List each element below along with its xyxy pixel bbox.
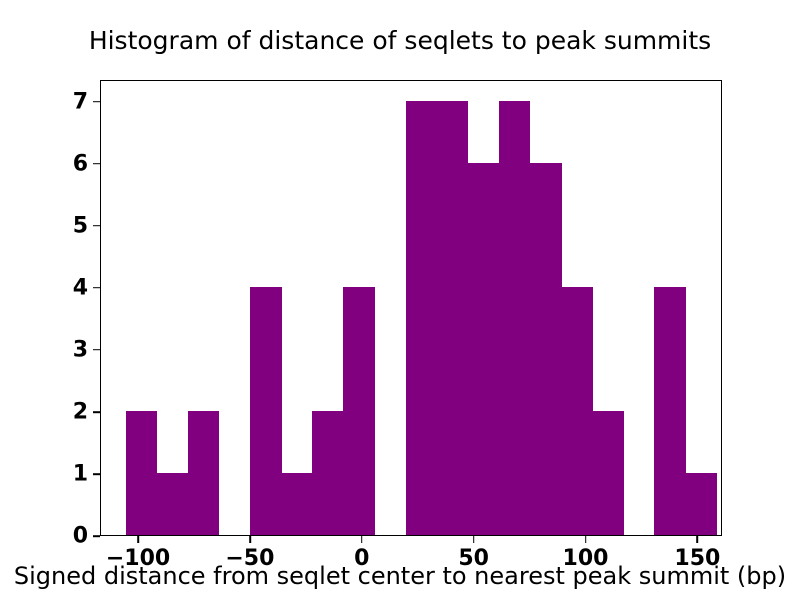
histogram-bar (281, 473, 313, 535)
x-tick-mark (249, 536, 251, 543)
bars-layer (101, 81, 721, 535)
histogram-bar (499, 101, 531, 535)
y-tick-mark (93, 225, 100, 227)
histogram-bar (592, 411, 624, 535)
histogram-bar (530, 163, 562, 535)
y-tick-mark (93, 411, 100, 413)
histogram-bar (437, 101, 469, 535)
y-tick-mark (93, 349, 100, 351)
y-tick-label: 2 (73, 399, 88, 424)
x-tick-mark (361, 536, 363, 543)
histogram-bar (468, 163, 500, 535)
histogram-bar (685, 473, 717, 535)
y-tick-mark (93, 535, 100, 537)
histogram-figure: Histogram of distance of seqlets to peak… (0, 0, 800, 600)
x-tick-mark (473, 536, 475, 543)
histogram-bar (654, 287, 686, 535)
y-tick-label: 6 (73, 151, 88, 176)
histogram-bar (561, 287, 593, 535)
page-title: Histogram of distance of seqlets to peak… (0, 26, 800, 55)
y-tick-mark (93, 287, 100, 289)
x-tick-mark (137, 536, 139, 543)
y-tick-label: 0 (73, 524, 88, 549)
y-tick-label: 7 (73, 89, 88, 114)
histogram-bar (312, 411, 344, 535)
histogram-bar (406, 101, 438, 535)
y-tick-label: 3 (73, 337, 88, 362)
histogram-bar (250, 287, 282, 535)
y-tick-label: 4 (73, 275, 88, 300)
y-tick-label: 5 (73, 213, 88, 238)
y-tick-mark (93, 163, 100, 165)
histogram-bar (188, 411, 220, 535)
histogram-bar (343, 287, 375, 535)
plot-area (100, 80, 722, 536)
x-tick-mark (697, 536, 699, 543)
y-tick-mark (93, 101, 100, 103)
y-tick-label: 1 (73, 461, 88, 486)
x-tick-mark (585, 536, 587, 543)
y-tick-mark (93, 473, 100, 475)
x-axis-label: Signed distance from seqlet center to ne… (0, 562, 800, 590)
histogram-bar (126, 411, 158, 535)
histogram-bar (157, 473, 189, 535)
